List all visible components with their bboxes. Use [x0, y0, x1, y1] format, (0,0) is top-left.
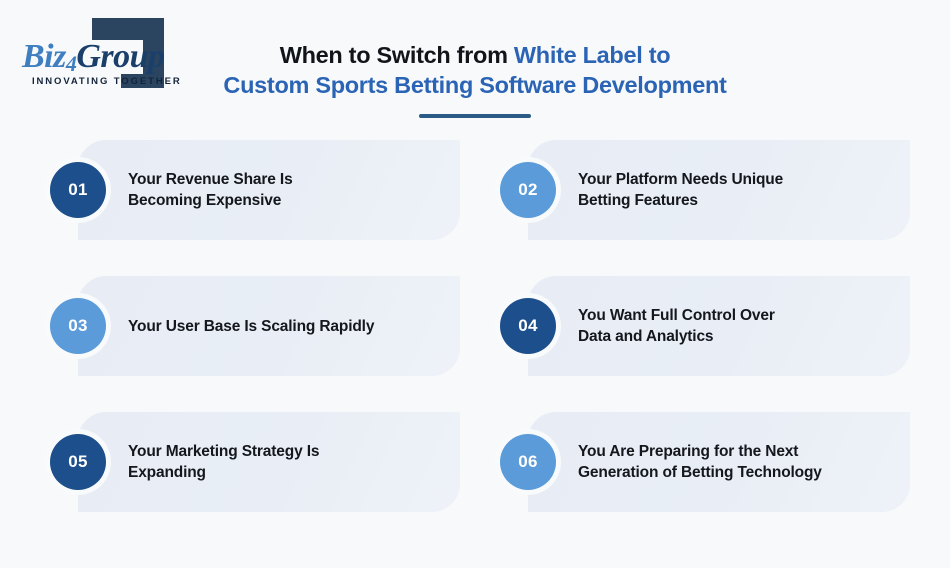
title-accent-text: White Label to	[514, 42, 670, 68]
logo-wordmark: Biz4Group	[22, 38, 165, 76]
card-06[interactable]: 06 You Are Preparing for the Next Genera…	[490, 412, 910, 512]
brand-logo: Biz4Group INNOVATING TOGETHER	[14, 16, 184, 94]
card-number-badge: 02	[500, 162, 556, 218]
card-number-badge: 05	[50, 434, 106, 490]
cards-row-1: 01 Your Revenue Share Is Becoming Expens…	[40, 140, 910, 240]
card-label: Your User Base Is Scaling Rapidly	[128, 316, 408, 337]
card-05[interactable]: 05 Your Marketing Strategy Is Expanding	[40, 412, 460, 512]
card-label: Your Marketing Strategy Is Expanding	[128, 441, 353, 483]
card-number-badge: 04	[500, 298, 556, 354]
title-underline-rule	[419, 114, 531, 118]
card-number-badge: 01	[50, 162, 106, 218]
logo-word-number: 4	[66, 51, 77, 76]
card-number-badge: 03	[50, 298, 106, 354]
header: Biz4Group INNOVATING TOGETHER When to Sw…	[0, 0, 950, 140]
card-label: You Are Preparing for the Next Generatio…	[578, 441, 856, 483]
card-label: Your Platform Needs Unique Betting Featu…	[578, 169, 817, 211]
card-label: Your Revenue Share Is Becoming Expensive	[128, 169, 327, 211]
card-01[interactable]: 01 Your Revenue Share Is Becoming Expens…	[40, 140, 460, 240]
logo-word-part1: Biz	[22, 38, 66, 75]
card-02[interactable]: 02 Your Platform Needs Unique Betting Fe…	[490, 140, 910, 240]
infographic-canvas: Biz4Group INNOVATING TOGETHER When to Sw…	[0, 0, 950, 568]
cards-grid: 01 Your Revenue Share Is Becoming Expens…	[0, 140, 950, 512]
cards-row-3: 05 Your Marketing Strategy Is Expanding …	[40, 412, 910, 512]
card-03[interactable]: 03 Your User Base Is Scaling Rapidly	[40, 276, 460, 376]
logo-tagline: INNOVATING TOGETHER	[32, 76, 182, 87]
cards-row-2: 03 Your User Base Is Scaling Rapidly 04 …	[40, 276, 910, 376]
card-04[interactable]: 04 You Want Full Control Over Data and A…	[490, 276, 910, 376]
card-number-badge: 06	[500, 434, 556, 490]
card-label: You Want Full Control Over Data and Anal…	[578, 305, 809, 347]
logo-word-part2: Group	[76, 38, 164, 75]
title-plain-text: When to Switch from	[280, 42, 514, 68]
